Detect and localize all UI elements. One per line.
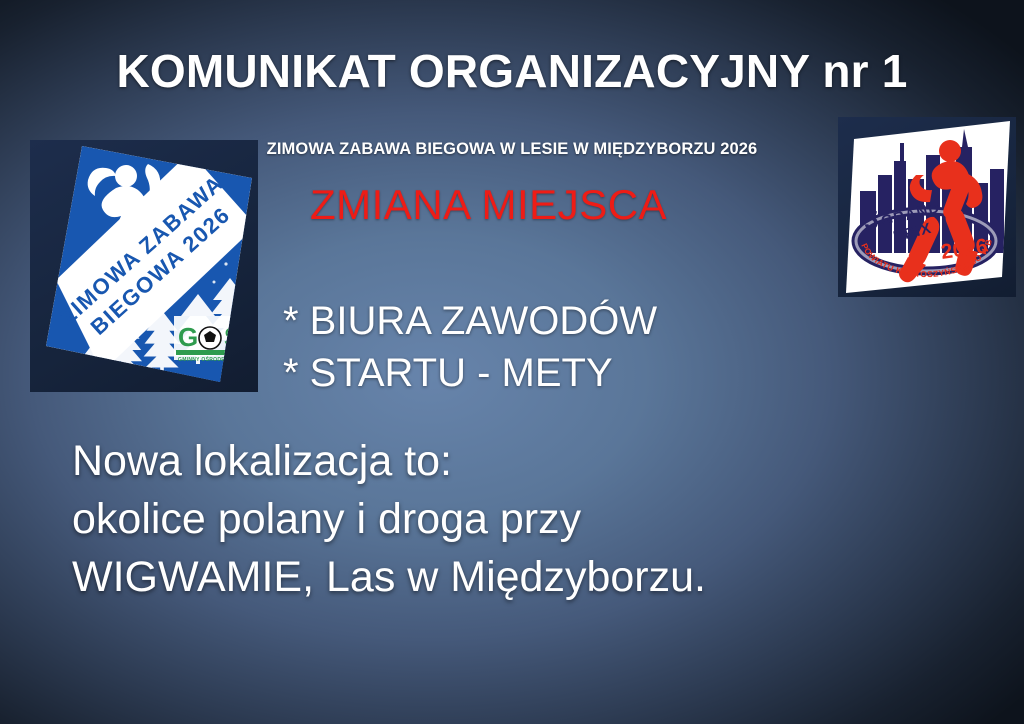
gos-letter-g: G <box>178 322 198 352</box>
alert-headline: ZMIANA MIEJSCA <box>310 181 667 229</box>
page-title: KOMUNIKAT ORGANIZACYJNY nr 1 <box>0 44 1024 98</box>
gos-letter-s: S <box>224 322 241 352</box>
event-subtitle: ZIMOWA ZABAWA BIEGOWA W LESIE W MIĘDZYBO… <box>0 140 1024 159</box>
change-items-list: * BIURA ZAWODÓW * STARTU - METY <box>283 295 657 399</box>
grand-prix-edition-number: 5 <box>864 205 878 235</box>
location-line: Nowa lokalizacja to: <box>72 432 706 490</box>
new-location-block: Nowa lokalizacja to: okolice polany i dr… <box>72 432 706 606</box>
poster-canvas: ZIMOWA ZABAWA BIEGOWA 2026 G S GMINNY OŚ… <box>0 0 1024 724</box>
location-line: WIGWAMIE, Las w Międzyborzu. <box>72 548 706 606</box>
list-item: * BIURA ZAWODÓW <box>283 295 657 347</box>
location-line: okolice polany i droga przy <box>72 490 706 548</box>
left-logo-panel: ZIMOWA ZABAWA BIEGOWA 2026 G S GMINNY OŚ… <box>30 140 258 392</box>
list-item: * STARTU - METY <box>283 347 657 399</box>
gos-subtitle: GMINNY OŚRODEK SPORTU <box>178 356 253 363</box>
zimowa-zabawa-biegowa-logo-icon: ZIMOWA ZABAWA BIEGOWA 2026 G S GMINNY OŚ… <box>30 140 258 392</box>
